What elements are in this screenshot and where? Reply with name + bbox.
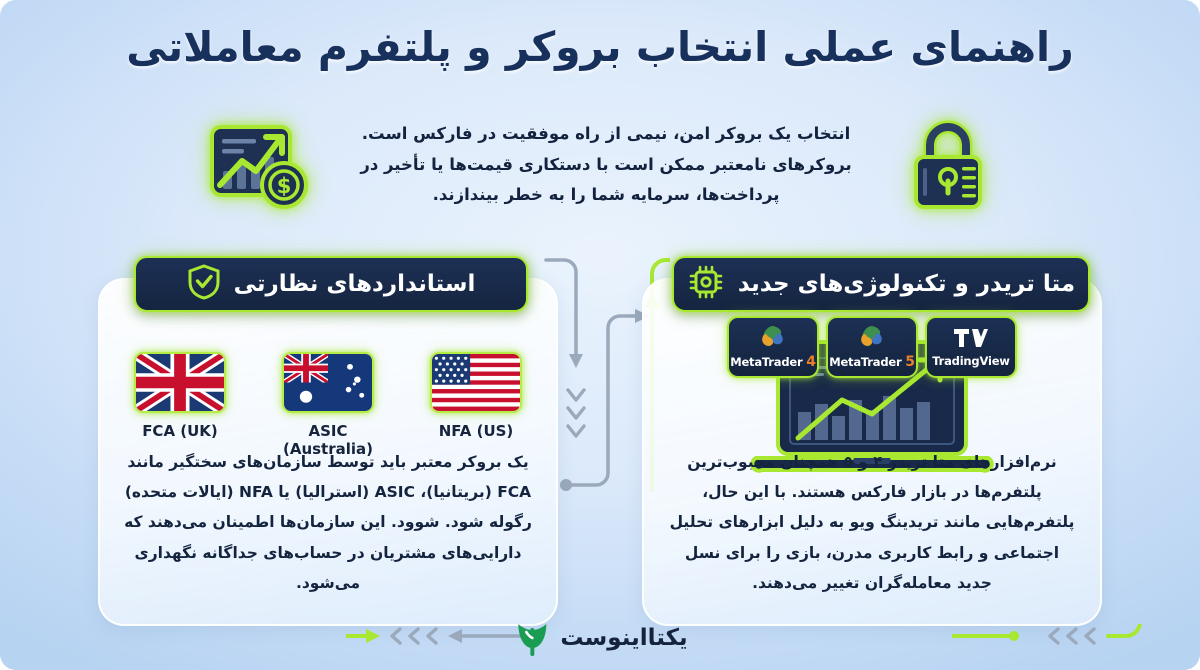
platform-badge-label-mt4: MetaTrader	[730, 355, 802, 369]
panel-body-regulatory: یک بروکر معتبر باید توسط سازمان‌های سختگ…	[124, 447, 532, 598]
page-title: راهنمای عملی انتخاب بروکر و پلتفرم معامل…	[0, 22, 1200, 73]
regulator-item-asic: ASIC (Australia)	[273, 352, 383, 458]
regulator-item-fca: FCA (UK)	[125, 352, 235, 458]
intro-section: انتخاب یک بروکر امن، نیمی از راه موفقیت …	[0, 105, 1200, 225]
panel-header-platforms-label: متا تریدر و تکنولوژی‌های جدید	[738, 271, 1075, 297]
platform-badge-metatrader-4[interactable]: MetaTrader 4	[727, 316, 819, 378]
platform-badges-row: MetaTrader 4 MetaTrader 5	[644, 316, 1100, 378]
platform-badge-number-mt4: 4	[806, 354, 816, 370]
padlock-icon	[902, 113, 994, 217]
tradingview-icon	[954, 327, 988, 353]
metatrader-icon	[859, 325, 885, 353]
regulator-label-nfa: NFA (US)	[421, 422, 531, 440]
australia-flag	[282, 352, 374, 413]
shield-check-icon	[187, 263, 221, 305]
intro-text: انتخاب یک بروکر امن، نیمی از راه موفقیت …	[336, 119, 876, 211]
usa-flag	[430, 352, 522, 413]
infographic-canvas: راهنمای عملی انتخاب بروکر و پلتفرم معامل…	[0, 0, 1200, 670]
cpu-chip-icon	[687, 263, 725, 305]
footer-connector-right	[952, 624, 1142, 648]
panel-platforms: متا تریدر و تکنولوژی‌های جدید	[642, 278, 1102, 626]
footer-connector-left	[346, 624, 526, 648]
panel-header-regulatory: استانداردهای نظارتی	[134, 256, 528, 312]
uk-flag	[134, 352, 226, 413]
yekta-leaf-logo	[512, 616, 552, 660]
platform-badge-label-mt5: MetaTrader	[829, 355, 901, 369]
regulator-item-nfa: NFA (US)	[421, 352, 531, 458]
platform-badge-number-mt5: 5	[905, 354, 915, 370]
metatrader-icon	[760, 325, 786, 353]
panel-header-platforms: متا تریدر و تکنولوژی‌های جدید	[672, 256, 1090, 312]
svg-text:$: $	[277, 174, 292, 198]
regulator-flags-row: FCA (UK)	[100, 352, 556, 458]
platform-badge-metatrader-5[interactable]: MetaTrader 5	[826, 316, 918, 378]
regulator-label-fca: FCA (UK)	[125, 422, 235, 440]
platform-badge-label-tradingview: TradingView	[932, 354, 1009, 368]
panel-body-platforms: نرم‌افزارهای متا تریدر ۴ و ۵ همچنان محبو…	[668, 447, 1076, 598]
panel-header-regulatory-label: استانداردهای نظارتی	[234, 271, 476, 297]
footer-brand-label: یکتااینوست	[560, 625, 687, 651]
platform-badge-tradingview[interactable]: TradingView	[925, 316, 1017, 378]
growth-chart-dollar-icon: $	[206, 113, 310, 217]
panel-regulatory-standards: استانداردهای نظارتی	[98, 278, 558, 626]
footer-brand: یکتااینوست	[512, 616, 687, 660]
